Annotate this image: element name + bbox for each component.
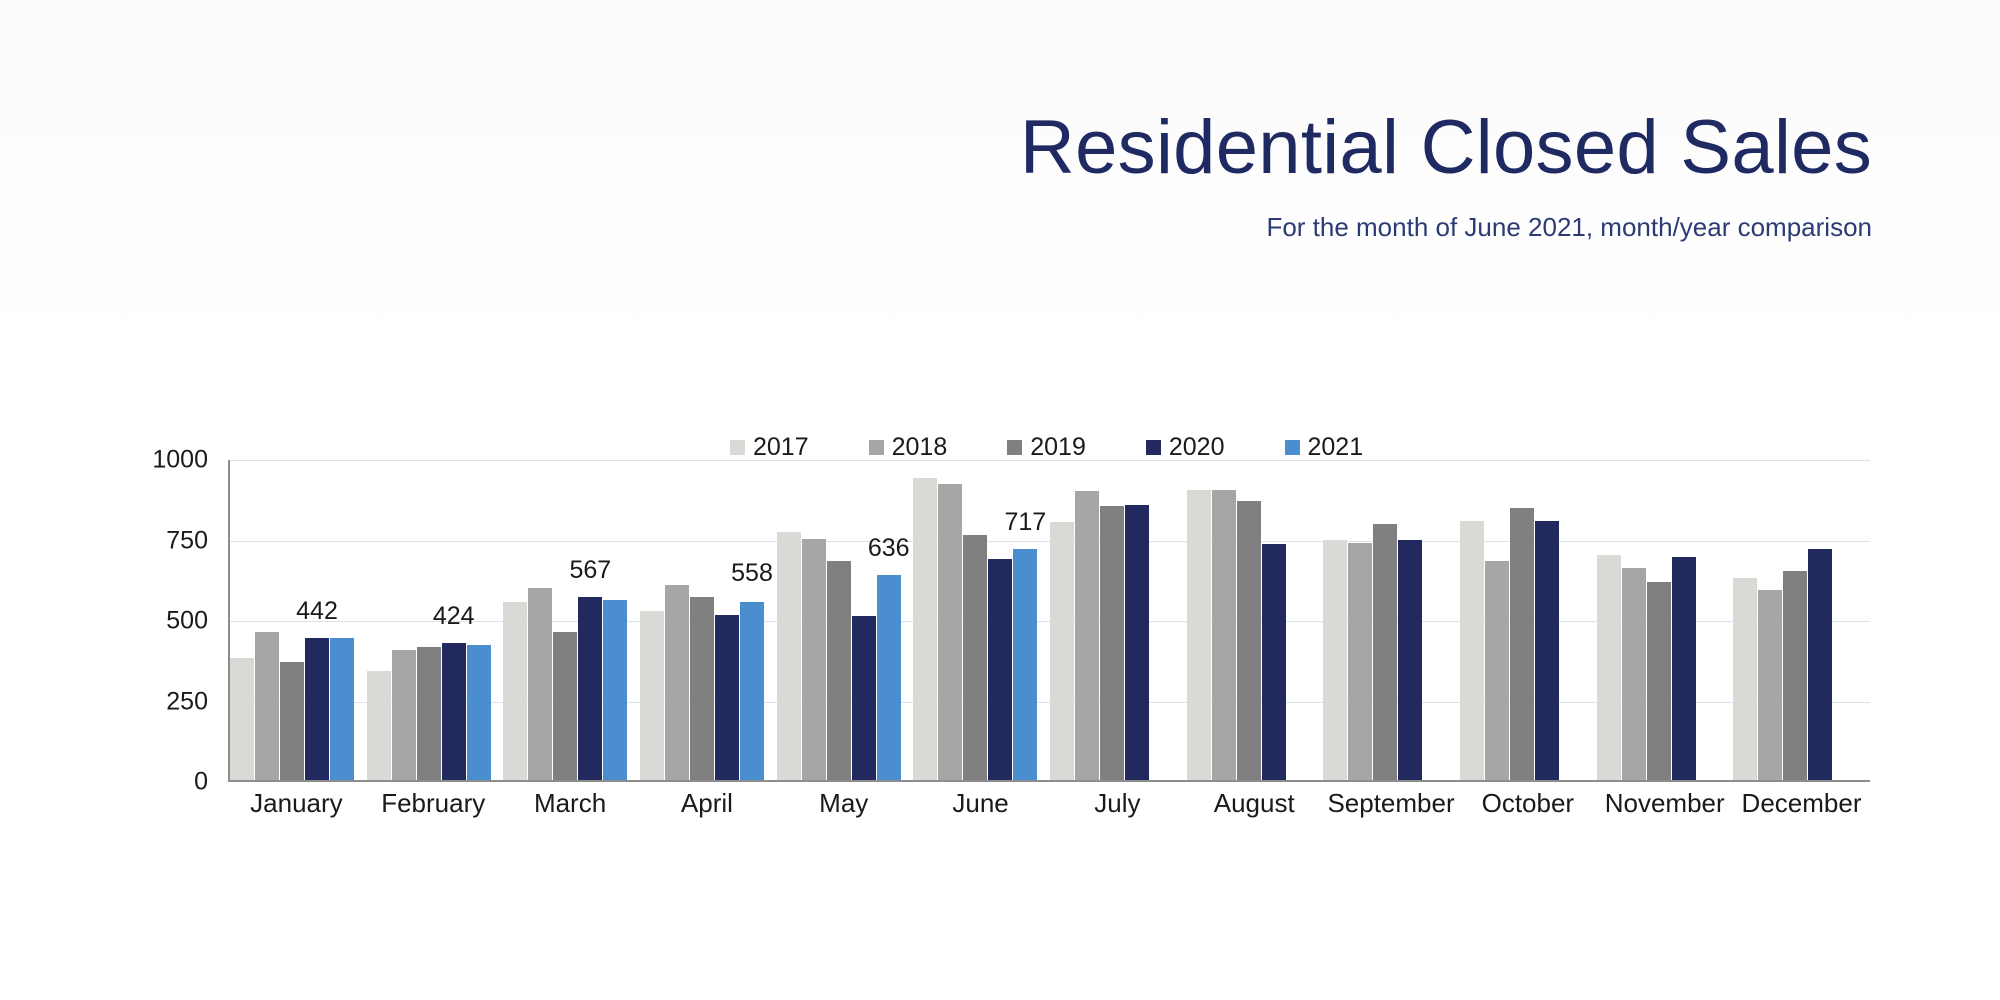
bar-march-2021[interactable] — [603, 600, 627, 780]
legend-label: 2017 — [753, 435, 809, 460]
bar-january-2017[interactable] — [230, 658, 254, 780]
legend-swatch-icon — [869, 440, 884, 455]
bar-april-2018[interactable] — [665, 585, 689, 780]
bar-data-label-april: 558 — [731, 561, 773, 586]
chart-plot-area: 02505007501000 442424567558636717 Januar… — [150, 460, 1870, 860]
bar-june-2018[interactable] — [938, 484, 962, 780]
bar-march-2020[interactable] — [578, 597, 602, 780]
bar-july-2018[interactable] — [1075, 491, 1099, 780]
bar-august-2018[interactable] — [1212, 490, 1236, 780]
y-axis-tick-label: 750 — [166, 528, 208, 553]
bar-data-label-february: 424 — [433, 604, 475, 629]
bar-group-november — [1597, 460, 1734, 780]
x-axis-label-may: May — [775, 790, 912, 830]
legend-item-2019[interactable]: 2019 — [1007, 435, 1086, 460]
bar-march-2018[interactable] — [528, 588, 552, 780]
bar-november-2019[interactable] — [1647, 582, 1671, 780]
slide-header: Residential Closed Sales For the month o… — [0, 110, 1872, 240]
bar-june-2017[interactable] — [913, 478, 937, 780]
bar-april-2020[interactable] — [715, 615, 739, 780]
x-axis-label-april: April — [638, 790, 775, 830]
x-axis-label-august: August — [1186, 790, 1323, 830]
bar-group-july — [1050, 460, 1187, 780]
bar-december-2019[interactable] — [1783, 571, 1807, 780]
legend-item-2021[interactable]: 2021 — [1285, 435, 1364, 460]
bar-data-label-june: 717 — [1005, 510, 1047, 535]
bar-may-2019[interactable] — [827, 561, 851, 780]
bar-september-2019[interactable] — [1373, 524, 1397, 780]
bar-december-2018[interactable] — [1758, 590, 1782, 780]
y-axis: 02505007501000 — [150, 460, 218, 782]
bar-august-2019[interactable] — [1237, 501, 1261, 780]
bar-september-2018[interactable] — [1348, 543, 1372, 780]
x-axis-label-october: October — [1459, 790, 1596, 830]
bar-april-2017[interactable] — [640, 611, 664, 780]
legend-item-2018[interactable]: 2018 — [869, 435, 948, 460]
bar-group-may: 636 — [777, 460, 914, 780]
residential-closed-sales-chart: 20172018201920202021 02505007501000 4424… — [150, 430, 1870, 860]
x-axis: JanuaryFebruaryMarchAprilMayJuneJulyAugu… — [228, 790, 1870, 830]
bar-april-2019[interactable] — [690, 597, 714, 780]
bar-january-2019[interactable] — [280, 662, 304, 780]
bar-group-march: 567 — [503, 460, 640, 780]
bar-data-label-march: 567 — [569, 558, 611, 583]
bar-june-2021[interactable] — [1013, 549, 1037, 780]
bar-february-2021[interactable] — [467, 645, 491, 780]
bar-group-october — [1460, 460, 1597, 780]
bar-may-2017[interactable] — [777, 532, 801, 780]
legend-swatch-icon — [1285, 440, 1300, 455]
bar-september-2017[interactable] — [1323, 540, 1347, 780]
bar-january-2020[interactable] — [305, 638, 329, 780]
x-axis-label-march: March — [502, 790, 639, 830]
bar-group-april: 558 — [640, 460, 777, 780]
bar-december-2020[interactable] — [1808, 549, 1832, 780]
bars-area: 442424567558636717 — [230, 460, 1870, 780]
bar-group-january: 442 — [230, 460, 367, 780]
legend-swatch-icon — [730, 440, 745, 455]
bar-october-2020[interactable] — [1535, 521, 1559, 780]
x-axis-label-july: July — [1049, 790, 1186, 830]
y-axis-tick-label: 1000 — [152, 448, 208, 473]
bar-august-2017[interactable] — [1187, 490, 1211, 780]
y-axis-tick-label: 500 — [166, 609, 208, 634]
bar-september-2020[interactable] — [1398, 540, 1422, 780]
bar-group-december — [1733, 460, 1870, 780]
legend-label: 2018 — [892, 435, 948, 460]
bar-march-2019[interactable] — [553, 632, 577, 780]
bar-group-june: 717 — [913, 460, 1050, 780]
bar-group-february: 424 — [367, 460, 504, 780]
chart-legend: 20172018201920202021 — [730, 430, 1363, 464]
bar-november-2018[interactable] — [1622, 568, 1646, 780]
legend-item-2017[interactable]: 2017 — [730, 435, 809, 460]
bar-april-2021[interactable] — [740, 602, 764, 780]
legend-label: 2019 — [1030, 435, 1086, 460]
legend-label: 2020 — [1169, 435, 1225, 460]
bar-june-2020[interactable] — [988, 559, 1012, 780]
bar-february-2020[interactable] — [442, 643, 466, 780]
bar-may-2018[interactable] — [802, 539, 826, 781]
x-axis-label-june: June — [912, 790, 1049, 830]
y-axis-tick-label: 250 — [166, 689, 208, 714]
bar-january-2021[interactable] — [330, 638, 354, 780]
bar-march-2017[interactable] — [503, 602, 527, 780]
bar-october-2017[interactable] — [1460, 521, 1484, 780]
bar-november-2017[interactable] — [1597, 555, 1621, 780]
slide: Residential Closed Sales For the month o… — [0, 0, 2000, 1000]
bar-february-2019[interactable] — [417, 647, 441, 780]
bar-july-2017[interactable] — [1050, 522, 1074, 780]
plot-canvas: 442424567558636717 — [228, 460, 1870, 782]
bar-may-2020[interactable] — [852, 616, 876, 780]
bar-november-2020[interactable] — [1672, 557, 1696, 780]
bar-october-2018[interactable] — [1485, 561, 1509, 780]
page-subtitle: For the month of June 2021, month/year c… — [0, 186, 1872, 240]
bar-august-2020[interactable] — [1262, 544, 1286, 780]
bar-july-2019[interactable] — [1100, 506, 1124, 780]
legend-swatch-icon — [1146, 440, 1161, 455]
bar-january-2018[interactable] — [255, 632, 279, 780]
legend-item-2020[interactable]: 2020 — [1146, 435, 1225, 460]
x-axis-label-january: January — [228, 790, 365, 830]
x-axis-label-september: September — [1323, 790, 1460, 830]
bar-june-2019[interactable] — [963, 535, 987, 780]
legend-swatch-icon — [1007, 440, 1022, 455]
y-axis-tick-label: 0 — [194, 770, 208, 795]
bar-february-2017[interactable] — [367, 671, 391, 780]
bar-group-september — [1323, 460, 1460, 780]
bar-group-august — [1187, 460, 1324, 780]
bar-december-2017[interactable] — [1733, 578, 1757, 780]
legend-label: 2021 — [1308, 435, 1364, 460]
page-title: Residential Closed Sales — [0, 110, 1872, 186]
bar-july-2020[interactable] — [1125, 505, 1149, 780]
x-axis-label-december: December — [1733, 790, 1870, 830]
bar-data-label-january: 442 — [296, 599, 338, 624]
bar-data-label-may: 636 — [868, 536, 910, 561]
bar-may-2021[interactable] — [877, 575, 901, 780]
x-axis-label-february: February — [365, 790, 502, 830]
x-axis-label-november: November — [1596, 790, 1733, 830]
bar-february-2018[interactable] — [392, 650, 416, 780]
bar-october-2019[interactable] — [1510, 508, 1534, 780]
